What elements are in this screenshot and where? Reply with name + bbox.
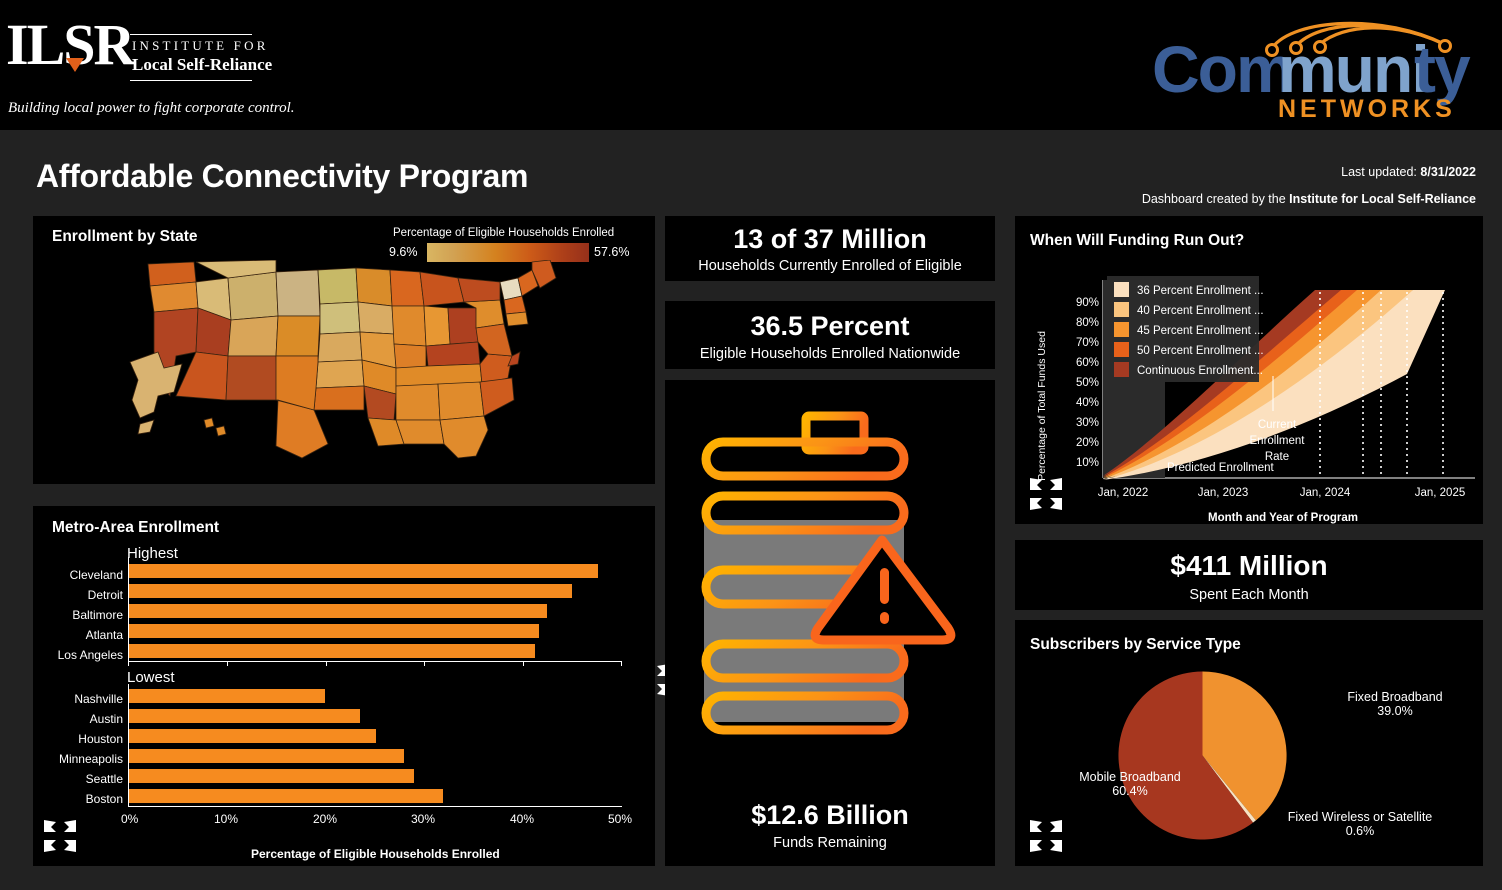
metro-bar-lowest[interactable]: [128, 729, 376, 743]
metro-tick: [523, 661, 524, 666]
svg-text:NETWORKS: NETWORKS: [1278, 95, 1456, 123]
panel-title-enrollment-by-state: Enrollment by State: [52, 228, 198, 246]
pie-callout-value: 39.0%: [1315, 704, 1475, 718]
metro-x-tick-label: 30%: [411, 812, 435, 826]
kpi-percent-label: Eligible Households Enrolled Nationwide: [665, 346, 995, 362]
funding-y-tick: 90%: [1076, 297, 1099, 309]
metro-highest-y-axis: [128, 557, 129, 662]
metro-lowest-heading: Lowest: [127, 669, 175, 686]
pie-callout-mobile-broadband: Mobile Broadband 60.4%: [1055, 770, 1205, 798]
metro-lowest-y-axis: [128, 684, 129, 806]
funds-remaining-panel: $12.6 Billion Funds Remaining: [665, 380, 995, 866]
metro-bar-lowest[interactable]: [128, 789, 443, 803]
ilsr-logo: ILSR INSTITUTE FOR Local Self-Reliance B…: [4, 14, 274, 114]
ilsr-institute-text: INSTITUTE FOR: [132, 38, 269, 54]
created-by-label: Dashboard created by the: [1142, 192, 1286, 206]
us-choropleth-map[interactable]: [128, 260, 568, 460]
metro-tick: [621, 661, 622, 666]
metro-x-tick-label: 40%: [510, 812, 534, 826]
funds-remaining-value: $12.6 Billion: [665, 800, 995, 831]
metro-category-label: Boston: [33, 792, 123, 806]
ilsr-rule-bottom: [130, 80, 252, 81]
svg-text:Current: Current: [1258, 419, 1297, 431]
metro-tick: [424, 661, 425, 666]
community-networks-logo: Com muni ty NETWORKS: [1144, 4, 1484, 124]
svg-text:Enrollment: Enrollment: [1250, 435, 1306, 447]
fuel-barrel-icon: [690, 400, 970, 800]
metro-bar-lowest[interactable]: [128, 709, 360, 723]
metro-x-tick-label: 20%: [313, 812, 337, 826]
legend-swatch-continuous: [1114, 362, 1129, 377]
metro-highest-heading: Highest: [127, 545, 178, 562]
map-legend-caption: Percentage of Eligible Households Enroll…: [393, 227, 614, 239]
funding-x-tick: Jan, 2025: [1415, 487, 1466, 499]
funding-y-tick: 30%: [1076, 417, 1099, 429]
created-by-value: Institute for Local Self-Reliance: [1289, 192, 1476, 206]
metro-bar-highest[interactable]: [128, 564, 598, 578]
metro-tick: [128, 661, 129, 666]
metro-x-axis-title: Percentage of Eligible Households Enroll…: [251, 847, 500, 861]
pie-callout-label: Fixed Wireless or Satellite: [1245, 810, 1475, 824]
funding-y-tick: 70%: [1076, 337, 1099, 349]
kpi-households-value: 13 of 37 Million: [665, 224, 995, 255]
pie-callout-fixed-wireless: Fixed Wireless or Satellite 0.6%: [1245, 810, 1475, 838]
legend-label-36: 36 Percent Enrollment ...: [1137, 285, 1264, 297]
funding-legend: 36 Percent Enrollment ... 40 Percent Enr…: [1107, 276, 1264, 382]
metro-category-label: Minneapolis: [33, 752, 123, 766]
ilsr-name-text: Local Self-Reliance: [132, 55, 272, 75]
ilsr-rule-top: [130, 34, 252, 35]
expand-arrows-icon-pie[interactable]: [1026, 816, 1066, 856]
metro-category-label: Austin: [33, 712, 123, 726]
pie-callout-label: Mobile Broadband: [1055, 770, 1205, 784]
kpi-households-enrolled: 13 of 37 Million Households Currently En…: [665, 216, 995, 281]
kpi-percent-enrolled: 36.5 Percent Eligible Households Enrolle…: [665, 301, 995, 369]
subscribers-by-service-type-panel: Subscribers by Service Type Fixed Broadb…: [1015, 620, 1483, 866]
metro-category-label: Seattle: [33, 772, 123, 786]
legend-label-50: 50 Percent Enrollment ...: [1137, 345, 1264, 357]
pie-callout-label: Fixed Broadband: [1315, 690, 1475, 704]
funding-y-axis-title: Percentage of Total Funds Used: [1036, 331, 1048, 481]
metro-category-label: Nashville: [33, 692, 123, 706]
created-by: Dashboard created by the Institute for L…: [1142, 192, 1476, 206]
ilsr-tagline: Building local power to fight corporate …: [8, 100, 295, 117]
metro-bar-lowest[interactable]: [128, 749, 404, 763]
legend-label-continuous: Continuous Enrollment...: [1137, 365, 1263, 377]
metro-x-tick-label: 0%: [121, 812, 138, 826]
funding-y-tick: 10%: [1076, 457, 1099, 469]
expand-arrows-icon-funding[interactable]: [1026, 474, 1066, 514]
metro-category-label: Houston: [33, 732, 123, 746]
svg-text:Com: Com: [1152, 32, 1293, 106]
last-updated-value: 8/31/2022: [1420, 165, 1476, 179]
funding-y-tick: 40%: [1076, 397, 1099, 409]
metro-category-label: Atlanta: [33, 628, 123, 642]
funding-y-tick: 80%: [1076, 317, 1099, 329]
metro-tick: [227, 661, 228, 666]
kpi-spent-label: Spent Each Month: [1015, 587, 1483, 603]
metro-tick: [326, 661, 327, 666]
legend-swatch-50: [1114, 342, 1129, 357]
kpi-percent-value: 36.5 Percent: [665, 311, 995, 342]
funding-x-tick: Jan, 2023: [1198, 487, 1249, 499]
community-networks-svg: Com muni ty NETWORKS: [1144, 4, 1484, 124]
pie-callout-value: 60.4%: [1055, 784, 1205, 798]
metro-bar-highest[interactable]: [128, 584, 572, 598]
last-updated-label: Last updated:: [1341, 165, 1417, 179]
panel-title-metro-area-enrollment: Metro-Area Enrollment: [52, 519, 219, 537]
enrollment-by-state-panel: Enrollment by State Percentage of Eligib…: [33, 216, 655, 484]
dashboard-root: ILSR INSTITUTE FOR Local Self-Reliance B…: [0, 0, 1502, 890]
legend-swatch-40: [1114, 302, 1129, 317]
funding-x-tick: Jan, 2024: [1300, 487, 1351, 499]
panel-title-subscribers-by-service-type: Subscribers by Service Type: [1030, 636, 1241, 654]
map-legend-min: 9.6%: [389, 245, 418, 259]
funds-remaining-label: Funds Remaining: [665, 835, 995, 851]
pie-callout-fixed-broadband: Fixed Broadband 39.0%: [1315, 690, 1475, 718]
page-header: ILSR INSTITUTE FOR Local Self-Reliance B…: [0, 0, 1502, 130]
expand-arrows-icon-metro[interactable]: [40, 816, 80, 856]
metro-bar-highest[interactable]: [128, 604, 547, 618]
funding-y-tick: 20%: [1076, 437, 1099, 449]
when-will-funding-run-out-panel: When Will Funding Run Out? Percentage of…: [1015, 216, 1483, 524]
ilsr-triangle-icon: [66, 58, 84, 72]
legend-label-45: 45 Percent Enrollment ...: [1137, 325, 1264, 337]
metro-bar-highest[interactable]: [128, 644, 535, 658]
legend-swatch-45: [1114, 322, 1129, 337]
funding-x-tick: Jan, 2022: [1098, 487, 1149, 499]
funding-y-tick: 60%: [1076, 357, 1099, 369]
metro-category-label: Baltimore: [33, 608, 123, 622]
legend-label-40: 40 Percent Enrollment ...: [1137, 305, 1264, 317]
metro-bar-lowest[interactable]: [128, 769, 414, 783]
last-updated: Last updated: 8/31/2022: [1341, 165, 1476, 179]
map-legend-max: 57.6%: [594, 245, 629, 259]
metro-highest-x-axis: [128, 661, 622, 662]
funding-y-tick: 50%: [1076, 377, 1099, 389]
kpi-households-label: Households Currently Enrolled of Eligibl…: [665, 258, 995, 274]
funding-projection-line-chart[interactable]: Percentage of Total Funds Used 90% 80% 7…: [1015, 256, 1483, 524]
page-title: Affordable Connectivity Program: [36, 158, 528, 195]
kpi-spent-value: $411 Million: [1015, 550, 1483, 582]
panel-title-funding-run-out: When Will Funding Run Out?: [1030, 232, 1244, 250]
annotation-predicted-enrollment: Predicted Enrollment: [1167, 462, 1275, 474]
metro-x-tick-label: 50%: [608, 812, 632, 826]
metro-x-tick-label: 10%: [214, 812, 238, 826]
funding-x-axis-title: Month and Year of Program: [1208, 512, 1358, 524]
metro-lowest-x-axis: [128, 806, 622, 807]
metro-bar-highest[interactable]: [128, 624, 539, 638]
metro-category-label: Cleveland: [33, 568, 123, 582]
metro-category-label: Los Angeles: [33, 648, 123, 662]
metro-category-label: Detroit: [33, 588, 123, 602]
pie-callout-value: 0.6%: [1245, 824, 1475, 838]
legend-swatch-36: [1114, 282, 1129, 297]
kpi-spent-each-month: $411 Million Spent Each Month: [1015, 540, 1483, 610]
metro-area-enrollment-panel: Metro-Area Enrollment Highest Lowest Cle…: [33, 506, 655, 866]
metro-bar-lowest[interactable]: [128, 689, 325, 703]
